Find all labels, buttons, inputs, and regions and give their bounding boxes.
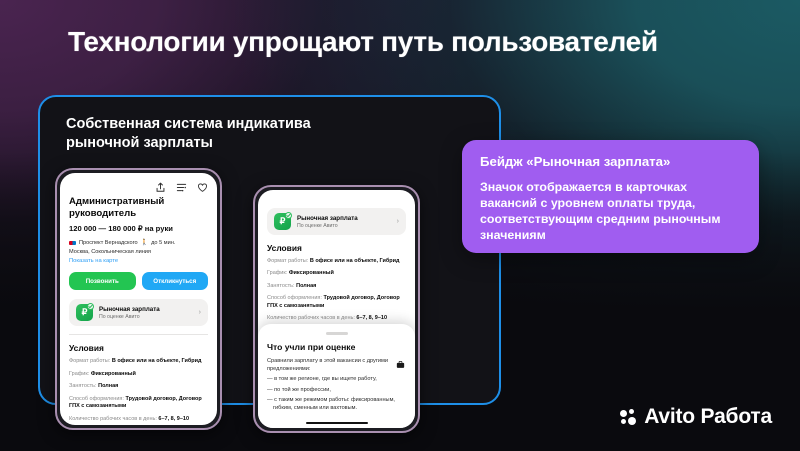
condition-value: Полная: [98, 383, 118, 389]
phone-mockup-primary: Административный руководитель 120 000 — …: [55, 168, 222, 430]
call-button[interactable]: Позвонить: [69, 272, 136, 290]
phone-mockup-secondary: ₽ Рыночная зарплата По оценке Авито › Ус…: [253, 185, 420, 433]
phone2-content: ₽ Рыночная зарплата По оценке Авито › Ус…: [258, 190, 415, 323]
condition-row: Способ оформления: Трудовой договор, Дог…: [69, 396, 208, 411]
chevron-right-icon: ›: [199, 309, 201, 316]
action-buttons: Позвонить Откликнуться: [69, 272, 208, 290]
condition-label: График:: [69, 371, 89, 377]
market-salary-badge[interactable]: ₽ Рыночная зарплата По оценке Авито ›: [267, 208, 406, 235]
badge-title: Рыночная зарплата: [297, 215, 391, 222]
sheet-heading: Что учли при оценке: [267, 342, 406, 352]
callout-title: Бейдж «Рыночная зарплата»: [480, 154, 741, 169]
home-indicator: [306, 422, 368, 425]
condition-row: Занятость: Полная: [267, 283, 406, 290]
metro-line: Проспект Вернадского 🚶 до 5 мин.: [69, 239, 208, 246]
ruble-symbol: ₽: [82, 307, 88, 318]
badge-title: Рыночная зарплата: [99, 306, 193, 313]
condition-label: Количество рабочих часов в день:: [69, 416, 157, 422]
condition-row: Количество рабочих часов в день: 6–7, 8,…: [69, 416, 208, 423]
callout-box: Бейдж «Рыночная зарплата» Значок отображ…: [462, 140, 759, 253]
market-salary-badge[interactable]: ₽ Рыночная зарплата По оценке Авито ›: [69, 299, 208, 326]
ruble-badge-icon: ₽: [76, 304, 93, 321]
condition-row: Занятость: Полная: [69, 383, 208, 390]
condition-label: Занятость:: [69, 383, 97, 389]
compare-icon[interactable]: [176, 180, 187, 191]
condition-value: 6–7, 8, 9–10: [158, 416, 189, 422]
market-salary-badge-text: Рыночная зарплата По оценке Авито: [297, 215, 391, 229]
condition-row: Количество рабочих часов в день: 6–7, 8,…: [267, 315, 406, 322]
share-icon[interactable]: [155, 180, 166, 191]
metro-station: Проспект Вернадского: [79, 240, 138, 246]
address: Москва, Сокольническая линия: [69, 249, 208, 255]
condition-row: График: Фиксированный: [69, 371, 208, 378]
divider: [69, 334, 208, 335]
sheet-bullet: — с таким же режимом работы: фиксированн…: [267, 397, 406, 413]
badge-subtitle: По оценке Авито: [297, 223, 391, 229]
condition-value: Полная: [296, 283, 316, 289]
phone2-conditions-heading: Условия: [267, 243, 406, 253]
callout-body: Значок отображается в карточках вакансий…: [480, 180, 741, 244]
ruble-badge-icon: ₽: [274, 213, 291, 230]
metro-icon: [69, 241, 76, 245]
condition-value: Фиксированный: [289, 270, 334, 276]
verified-check-icon: [87, 303, 94, 310]
avito-rabota-logo: Avito Работа: [620, 405, 772, 429]
condition-label: Способ оформления:: [267, 295, 322, 301]
favorite-icon[interactable]: [197, 180, 208, 191]
phone1-content: Административный руководитель 120 000 — …: [60, 194, 217, 423]
avito-logo-mark-icon: [620, 409, 637, 426]
condition-label: График:: [267, 270, 287, 276]
sheet-grabber[interactable]: [326, 332, 348, 335]
condition-label: Формат работы:: [267, 258, 308, 264]
phone1-screen: Административный руководитель 120 000 — …: [60, 173, 217, 425]
condition-label: Формат работы:: [69, 358, 110, 364]
condition-value: В офисе или на объекте, Гибрид: [112, 358, 202, 364]
condition-row: Способ оформления: Трудовой договор, Дог…: [267, 295, 406, 310]
verified-check-icon: [285, 212, 292, 219]
condition-row: График: Фиксированный: [267, 270, 406, 277]
condition-label: Занятость:: [267, 283, 295, 289]
sheet-bullet: — по той же профессии,: [267, 387, 406, 395]
phone2-screen: ₽ Рыночная зарплата По оценке Авито › Ус…: [258, 190, 415, 428]
condition-value: Фиксированный: [91, 371, 136, 377]
badge-subtitle: По оценке Авито: [99, 314, 193, 320]
job-title: Административный руководитель: [69, 196, 208, 219]
page-title: Технологии упрощают путь пользователей: [68, 26, 658, 58]
condition-label: Способ оформления:: [69, 396, 124, 402]
bottom-sheet: Что учли при оценке Сравнили зарплату в …: [258, 324, 415, 428]
condition-row: Формат работы: В офисе или на объекте, Г…: [267, 258, 406, 265]
condition-value: 6–7, 8, 9–10: [356, 315, 387, 321]
condition-row: Формат работы: В офисе или на объекте, Г…: [69, 358, 208, 365]
salary-range: 120 000 — 180 000 ₽ на руки: [69, 224, 208, 233]
feature-card-title: Собственная система индикатива рыночной …: [66, 115, 311, 153]
chevron-right-icon: ›: [397, 218, 399, 225]
condition-label: Количество рабочих часов в день:: [267, 315, 355, 321]
apply-button[interactable]: Откликнуться: [142, 272, 209, 290]
walk-time: до 5 мин.: [151, 240, 175, 246]
ruble-symbol: ₽: [280, 216, 286, 227]
phone1-toolbar: [60, 173, 217, 194]
show-on-map-link[interactable]: Показать на карте: [69, 258, 208, 264]
market-salary-badge-text: Рыночная зарплата По оценке Авито: [99, 306, 193, 320]
phone1-conditions-heading: Условия: [69, 343, 208, 353]
briefcase-icon: [396, 360, 405, 369]
sheet-bullet: — в том же регионе, где вы ищете работу,: [267, 376, 406, 384]
avito-logo-text: Avito Работа: [644, 405, 772, 429]
condition-value: В офисе или на объекте, Гибрид: [310, 258, 400, 264]
walk-icon: 🚶: [141, 239, 148, 246]
sheet-intro: Сравнили зарплату в этой вакансии с друг…: [267, 357, 406, 373]
